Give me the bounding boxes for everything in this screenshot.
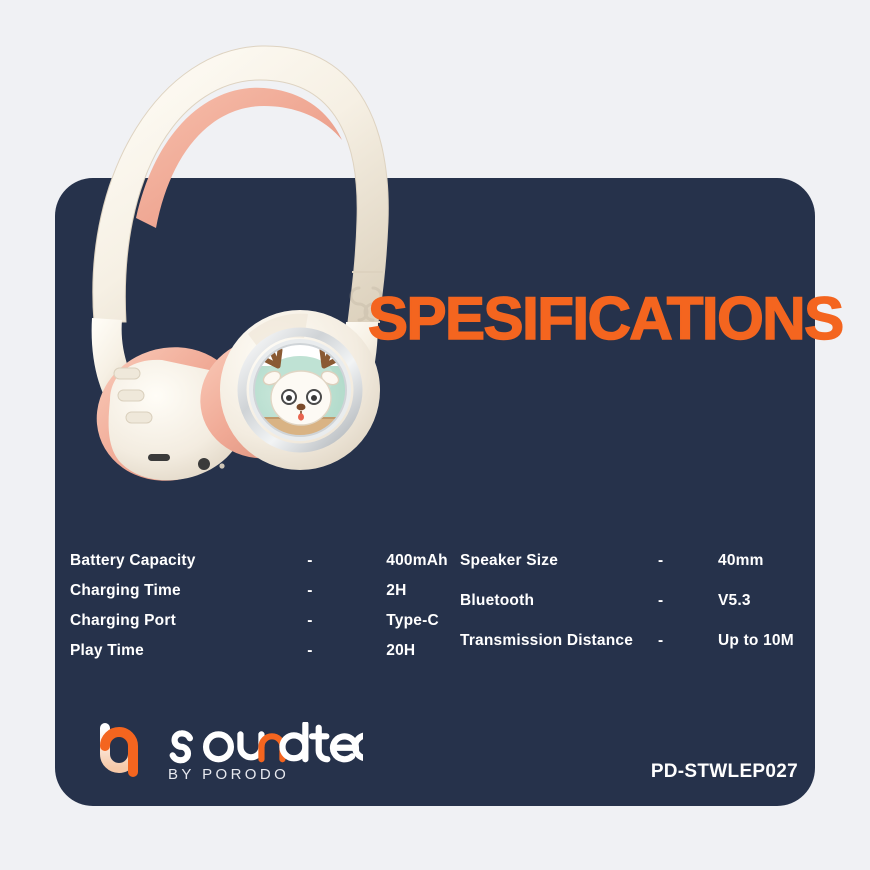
spec-label: Charging Time [70, 582, 307, 612]
spec-value: Type-C [386, 612, 460, 642]
spec-row: Bluetooth - V5.3 [460, 592, 794, 632]
spec-label: Play Time [70, 642, 307, 672]
spec-separator: - [658, 552, 718, 592]
spec-value: Up to 10M [718, 632, 794, 672]
model-code: PD-STWLEP027 [651, 761, 798, 783]
spec-row: Transmission Distance - Up to 10M [460, 632, 794, 672]
brand-wordmark-group: BY PORODO [166, 716, 363, 783]
spec-separator: - [307, 552, 386, 582]
spec-row: Charging Port - Type-C [70, 612, 460, 642]
spec-separator: - [307, 642, 386, 672]
spec-row: Play Time - 20H [70, 642, 460, 672]
soundtec-wordmark-icon [166, 722, 363, 764]
spec-label: Transmission Distance [460, 632, 658, 672]
specifications-table: Battery Capacity - 400mAh Charging Time … [70, 552, 810, 672]
spec-value: 400mAh [386, 552, 460, 582]
spec-label: Bluetooth [460, 592, 658, 632]
spec-value: 20H [386, 642, 460, 672]
specification-card-page: SPESIFICATIONS Battery Capacity - 400mAh… [0, 0, 870, 870]
spec-value: 40mm [718, 552, 794, 592]
spec-label: Charging Port [70, 612, 307, 642]
spec-separator: - [658, 592, 718, 632]
brand-tagline: BY PORODO [168, 766, 363, 783]
spec-separator: - [658, 632, 718, 672]
spec-value: 2H [386, 582, 460, 612]
spec-separator: - [307, 612, 386, 642]
spec-separator: - [307, 582, 386, 612]
spec-column-right: Speaker Size - 40mm Bluetooth - V5.3 Tra… [460, 552, 794, 672]
spec-column-left: Battery Capacity - 400mAh Charging Time … [70, 552, 460, 672]
spec-card-panel [55, 178, 815, 806]
spec-row: Charging Time - 2H [70, 582, 460, 612]
page-title: SPESIFICATIONS [368, 289, 843, 349]
spec-row: Battery Capacity - 400mAh [70, 552, 460, 582]
brand-logo: BY PORODO [88, 716, 363, 784]
spec-row: Speaker Size - 40mm [460, 552, 794, 592]
spec-label: Speaker Size [460, 552, 658, 592]
spec-value: V5.3 [718, 592, 794, 632]
soundtec-mark-icon [88, 716, 150, 784]
spec-label: Battery Capacity [70, 552, 307, 582]
